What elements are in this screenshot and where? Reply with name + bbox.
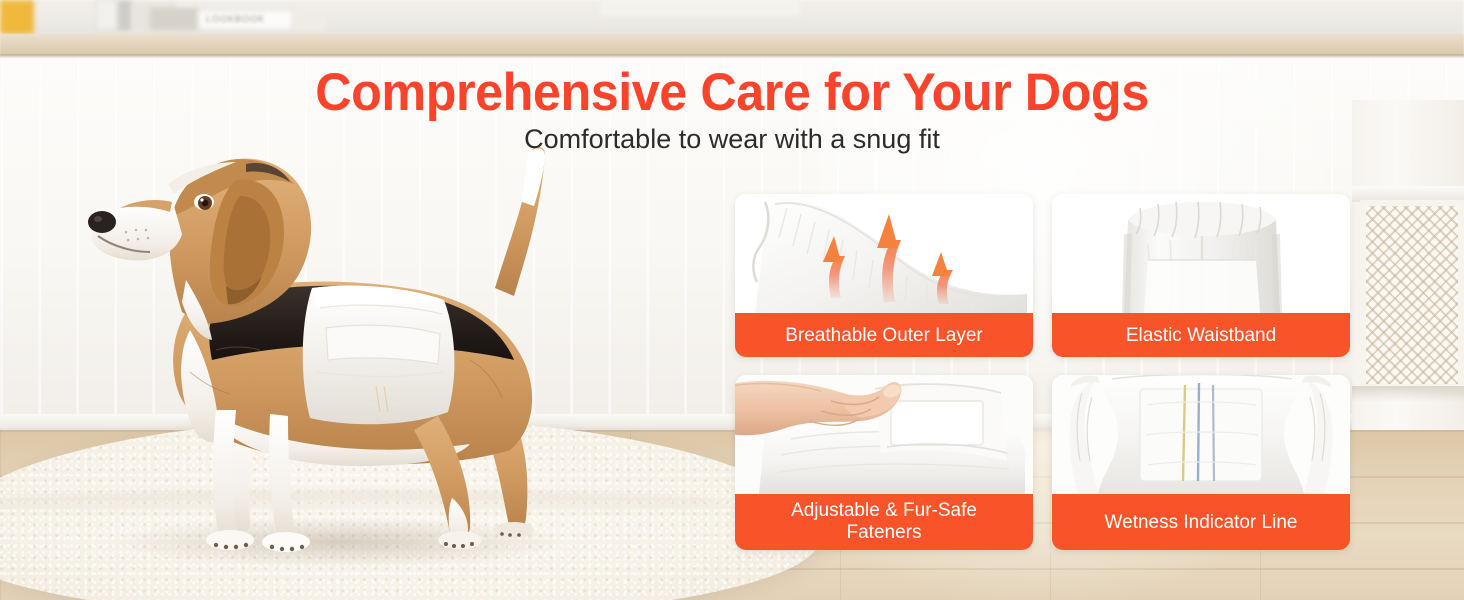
feature-label-elastic-waistband: Elastic Waistband	[1052, 313, 1350, 357]
feature-card-wetness-indicator-line[interactable]: Wetness Indicator Line	[1052, 375, 1350, 550]
elastic-waistband-image	[1052, 194, 1350, 313]
radiator-cover-body	[1360, 200, 1464, 390]
page-title: Comprehensive Care for Your Dogs	[37, 62, 1428, 123]
feature-label-line-2: Fateners	[847, 522, 922, 543]
shelf-object-white-box	[96, 0, 118, 30]
shelf-object-yellow-book	[0, 0, 34, 34]
feature-label-wetness-indicator-line: Wetness Indicator Line	[1052, 494, 1350, 550]
wetness-indicator-image	[1052, 375, 1350, 494]
shelf-object-stack	[150, 8, 198, 30]
feature-label-breathable-outer-layer: Breathable Outer Layer	[735, 313, 1033, 357]
shelf-object-back-panel	[600, 0, 800, 16]
wood-ledge	[0, 34, 1464, 56]
page-subtitle: Comfortable to wear with a snug fit	[0, 124, 1464, 155]
shelf-object-small-tray	[292, 14, 326, 30]
adjustable-fasteners-image	[735, 375, 1033, 494]
product-feature-banner: Library LOOKBOOK	[0, 0, 1464, 600]
feature-card-breathable-outer-layer[interactable]: Breathable Outer Layer	[735, 194, 1033, 357]
shelf-lookbook-label: LOOKBOOK	[206, 14, 292, 26]
radiator-shadow	[1352, 386, 1464, 402]
feature-label-adjustable-fur-safe-fateners: Adjustable & Fur-Safe Fateners	[735, 494, 1033, 550]
feature-card-elastic-waistband[interactable]: Elastic Waistband	[1052, 194, 1350, 357]
breathable-outer-layer-image	[735, 194, 1033, 313]
shelf-object-gray-book	[118, 0, 132, 30]
radiator-grille	[1366, 206, 1458, 384]
feature-card-adjustable-fur-safe-fateners[interactable]: Adjustable & Fur-Safe Fateners	[735, 375, 1033, 550]
beagle-dog-photo	[40, 110, 700, 580]
feature-card-grid: Breathable Outer Layer	[735, 194, 1350, 550]
feature-label-line-1: Adjustable & Fur-Safe	[791, 500, 977, 521]
